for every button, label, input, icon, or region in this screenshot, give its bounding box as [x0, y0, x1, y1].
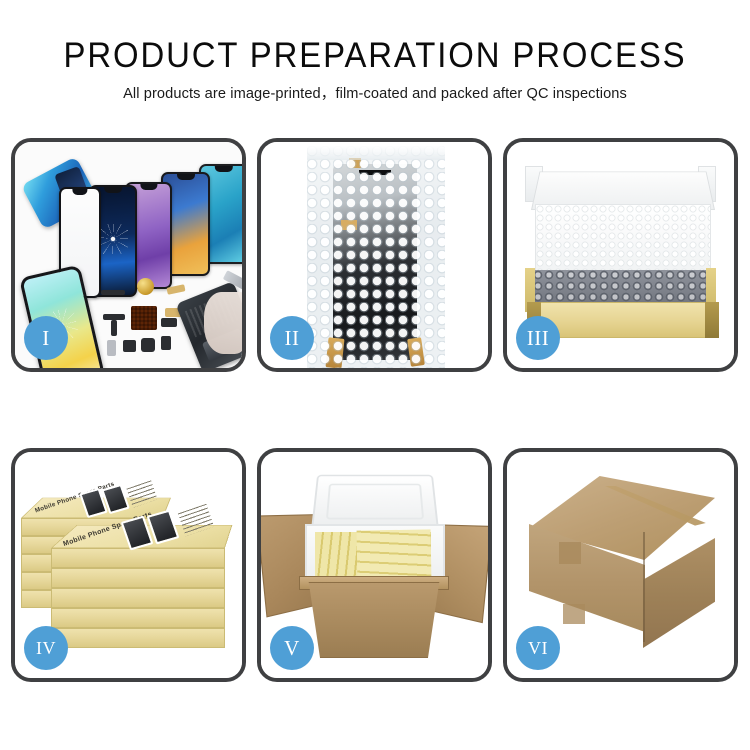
- part-vibrator: [141, 338, 155, 352]
- phone-notch-icon: [140, 184, 157, 190]
- step-2-illustration: II: [261, 142, 488, 368]
- product-preparation-infographic: PRODUCT PREPARATION PROCESS All products…: [0, 0, 750, 750]
- process-step-panel-1[interactable]: I: [11, 138, 246, 372]
- bag-seal-fold: [307, 146, 445, 160]
- retail-box: [51, 568, 225, 588]
- step-badge-1: I: [24, 316, 68, 360]
- lcd-screen-inside: [333, 164, 417, 360]
- bubble-wrap-bag: [307, 146, 445, 368]
- flex-cable-right: [407, 337, 425, 367]
- retail-box: [51, 548, 225, 568]
- step-badge-3: III: [516, 316, 560, 360]
- retail-box: [51, 608, 225, 628]
- part-button-flex: [161, 336, 171, 350]
- step-1-illustration: I: [15, 142, 242, 368]
- carton-tab-lower: [563, 604, 585, 624]
- process-step-panel-5[interactable]: V: [257, 448, 492, 682]
- process-step-grid: I II: [11, 138, 739, 682]
- step-badge-5: V: [270, 626, 314, 670]
- phone-notch-icon: [177, 174, 195, 180]
- page-subtitle: All products are image-printed，film-coat…: [0, 85, 750, 103]
- carton-corner-seam: [643, 532, 645, 642]
- part-bracket-arm: [111, 320, 117, 336]
- retail-box: [51, 588, 225, 608]
- step-badge-4: IV: [24, 626, 68, 670]
- process-step-panel-2[interactable]: II: [257, 138, 492, 372]
- process-step-panel-6[interactable]: VI: [503, 448, 738, 682]
- step-4-illustration: Mobile Phone Spare Parts Mobile Phone Sp…: [15, 452, 242, 678]
- part-camera-module: [123, 340, 136, 352]
- phone-notch-icon: [104, 187, 122, 193]
- carton-tab-upper: [559, 542, 581, 564]
- part-sim-tray: [107, 340, 116, 356]
- retail-box: [51, 628, 225, 648]
- step-badge-2: II: [270, 316, 314, 360]
- phone-notch-icon: [72, 189, 87, 195]
- white-foam-pad: [535, 204, 711, 274]
- step-badge-6: VI: [516, 626, 560, 670]
- process-step-panel-3[interactable]: III: [503, 138, 738, 372]
- retail-box-stack-right: Mobile Phone Spare Parts: [51, 510, 223, 668]
- cracked-screen-icon: [98, 224, 128, 254]
- part-connector-chip: [131, 306, 157, 330]
- part-shield-can: [161, 318, 177, 327]
- phone-notch-icon: [215, 166, 233, 172]
- part-speaker-bar: [101, 290, 125, 295]
- step-3-illustration: III: [507, 142, 734, 368]
- part-flex-cable: [166, 284, 185, 295]
- tape-strip-middle: [341, 220, 357, 230]
- step-6-illustration: VI: [507, 452, 734, 678]
- part-gold-speaker: [137, 278, 154, 295]
- process-step-panel-4[interactable]: Mobile Phone Spare Parts Mobile Phone Sp…: [11, 448, 246, 682]
- flex-cable-left: [325, 337, 344, 368]
- step-5-illustration: V: [261, 452, 488, 678]
- carton-front-face: [303, 582, 445, 658]
- page-title: PRODUCT PREPARATION PROCESS: [23, 36, 728, 76]
- header: PRODUCT PREPARATION PROCESS All products…: [0, 36, 750, 103]
- technician-hand: [204, 292, 242, 354]
- yellow-boxes-row-right: [357, 529, 432, 580]
- foam-case-lid: [311, 475, 439, 530]
